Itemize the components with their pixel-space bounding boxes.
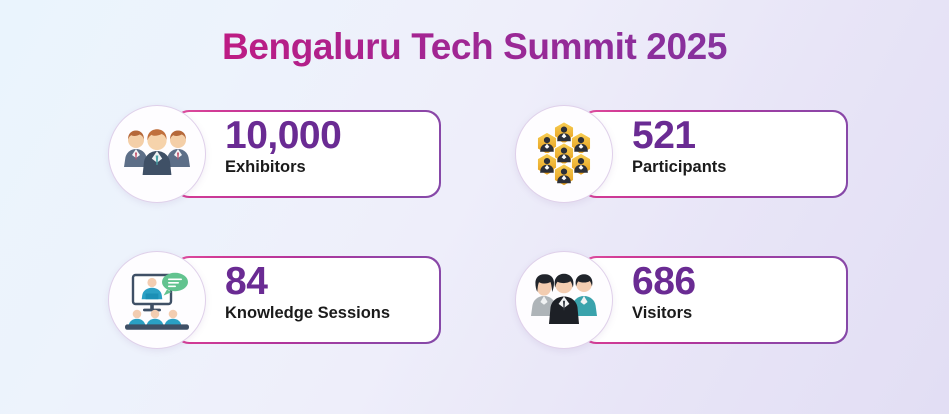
stats-grid: 10,000 Exhibitors bbox=[108, 105, 848, 363]
honeycomb-people-network-icon bbox=[515, 105, 613, 203]
stat-card-knowledge-sessions[interactable]: 84 Knowledge Sessions bbox=[108, 251, 441, 349]
three-business-people-icon bbox=[515, 251, 613, 349]
tech-summit-stats-banner: Bengaluru Tech Summit 2025 10,000 Exhibi… bbox=[0, 0, 949, 414]
stat-card-visitors[interactable]: 686 Visitors bbox=[515, 251, 848, 349]
stat-label: Participants bbox=[632, 157, 872, 178]
stat-value: 10,000 bbox=[225, 114, 465, 158]
three-businessmen-icon bbox=[108, 105, 206, 203]
stat-card-text: 521 Participants bbox=[632, 114, 872, 178]
webinar-presentation-icon bbox=[108, 251, 206, 349]
stat-card-text: 10,000 Exhibitors bbox=[225, 114, 465, 178]
stat-label: Knowledge Sessions bbox=[225, 303, 465, 324]
stat-card-text: 686 Visitors bbox=[632, 260, 872, 324]
stat-card-participants[interactable]: 521 Participants bbox=[515, 105, 848, 203]
stat-value: 521 bbox=[632, 114, 872, 158]
stat-label: Exhibitors bbox=[225, 157, 465, 178]
stat-card-exhibitors[interactable]: 10,000 Exhibitors bbox=[108, 105, 441, 203]
stat-value: 84 bbox=[225, 260, 465, 304]
page-title: Bengaluru Tech Summit 2025 bbox=[0, 24, 949, 70]
stat-value: 686 bbox=[632, 260, 872, 304]
stat-card-text: 84 Knowledge Sessions bbox=[225, 260, 465, 324]
stat-label: Visitors bbox=[632, 303, 872, 324]
